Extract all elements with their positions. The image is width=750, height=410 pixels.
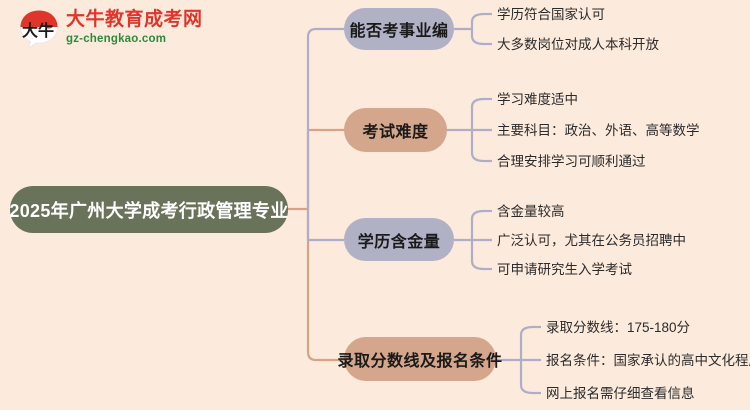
mindmap-leaf-1-0: 学习难度适中	[497, 92, 578, 108]
mindmap-leaf-3-0: 录取分数线：175-180分	[546, 320, 690, 336]
mindmap-leaf-2-2: 可申请研究生入学考试	[497, 262, 632, 278]
svg-text:大牛: 大牛	[22, 21, 54, 40]
logo-text: 大牛教育成考网 gz-chengkao.com	[66, 9, 203, 47]
mindmap-branch-node-3[interactable]: 录取分数线及报名条件	[344, 337, 496, 381]
site-logo[interactable]: 大牛 大牛教育成考网 gz-chengkao.com	[18, 4, 208, 56]
speech-bubble-daniu-logo-icon: 大牛	[18, 9, 60, 49]
connector-spine-tan-lower	[308, 209, 344, 360]
connector-spine-lavender	[308, 29, 344, 240]
mindmap-leaf-0-0: 学历符合国家认可	[497, 7, 605, 23]
mindmap-branch-node-0[interactable]: 能否考事业编	[344, 8, 454, 50]
logo-domain: gz-chengkao.com	[66, 32, 203, 47]
connector-branch-0-fork	[472, 14, 484, 44]
mindmap-leaf-3-2: 网上报名需仔细查看信息	[546, 386, 695, 402]
mindmap-root-node[interactable]: 2025年广州大学成考行政管理专业	[10, 186, 288, 233]
mindmap-leaf-2-0: 含金量较高	[497, 204, 565, 220]
mindmap-leaf-1-1: 主要科目：政治、外语、高等数学	[497, 123, 700, 139]
mindmap-branch-node-1[interactable]: 考试难度	[344, 108, 447, 152]
mindmap-leaf-2-1: 广泛认可，尤其在公务员招聘中	[497, 233, 686, 249]
mindmap-branch-node-2[interactable]: 学历含金量	[344, 218, 454, 261]
logo-brand-name: 大牛教育成考网	[66, 9, 203, 31]
mindmap-leaf-1-2: 合理安排学习可顺利通过	[497, 154, 646, 170]
mindmap-leaf-3-1: 报名条件：国家承认的高中文化程度	[546, 353, 750, 369]
mindmap-leaf-0-1: 大多数岗位对成人本科开放	[497, 37, 659, 53]
